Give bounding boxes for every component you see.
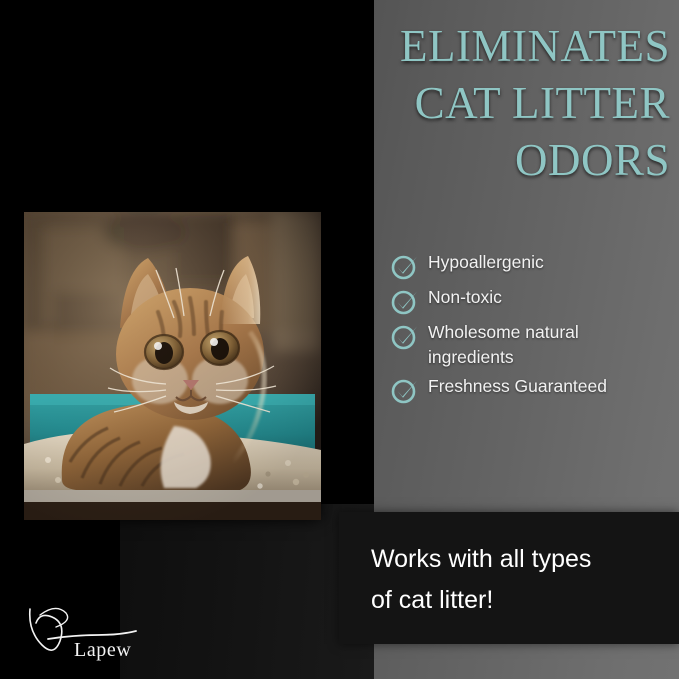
check-circle-icon xyxy=(390,286,420,316)
feature-item: Hypoallergenic xyxy=(390,250,670,281)
headline-line-1: ELIMINATES xyxy=(300,18,670,75)
feature-label: Hypoallergenic xyxy=(428,250,544,275)
callout-line-2: of cat litter! xyxy=(371,580,656,621)
feature-label: Wholesome natural ingredients xyxy=(428,320,660,370)
feature-item: Wholesome natural ingredients xyxy=(390,320,670,370)
callout-text: Works with all types of cat litter! xyxy=(371,539,656,621)
feature-label: Freshness Guaranteed xyxy=(428,374,607,399)
callout-panel: Works with all types of cat litter! xyxy=(339,512,679,644)
headline-line-2: CAT LITTER xyxy=(300,75,670,132)
callout-line-1: Works with all types xyxy=(371,539,656,580)
brand-logo: Lapew xyxy=(26,601,146,665)
check-circle-icon xyxy=(390,321,420,351)
check-circle-icon xyxy=(390,251,420,281)
kitten-in-litter-box-photo xyxy=(24,212,321,520)
ad-canvas: ELIMINATES CAT LITTER ODORS xyxy=(0,0,679,679)
check-circle-icon xyxy=(390,375,420,405)
feature-item: Non-toxic xyxy=(390,285,670,316)
headline-line-3: ODORS xyxy=(300,132,670,189)
headline: ELIMINATES CAT LITTER ODORS xyxy=(300,18,670,189)
feature-list: Hypoallergenic Non-toxic Wholesome natur… xyxy=(390,250,670,409)
brand-wordmark: Lapew xyxy=(74,639,131,662)
feature-item: Freshness Guaranteed xyxy=(390,374,670,405)
feature-label: Non-toxic xyxy=(428,285,502,310)
